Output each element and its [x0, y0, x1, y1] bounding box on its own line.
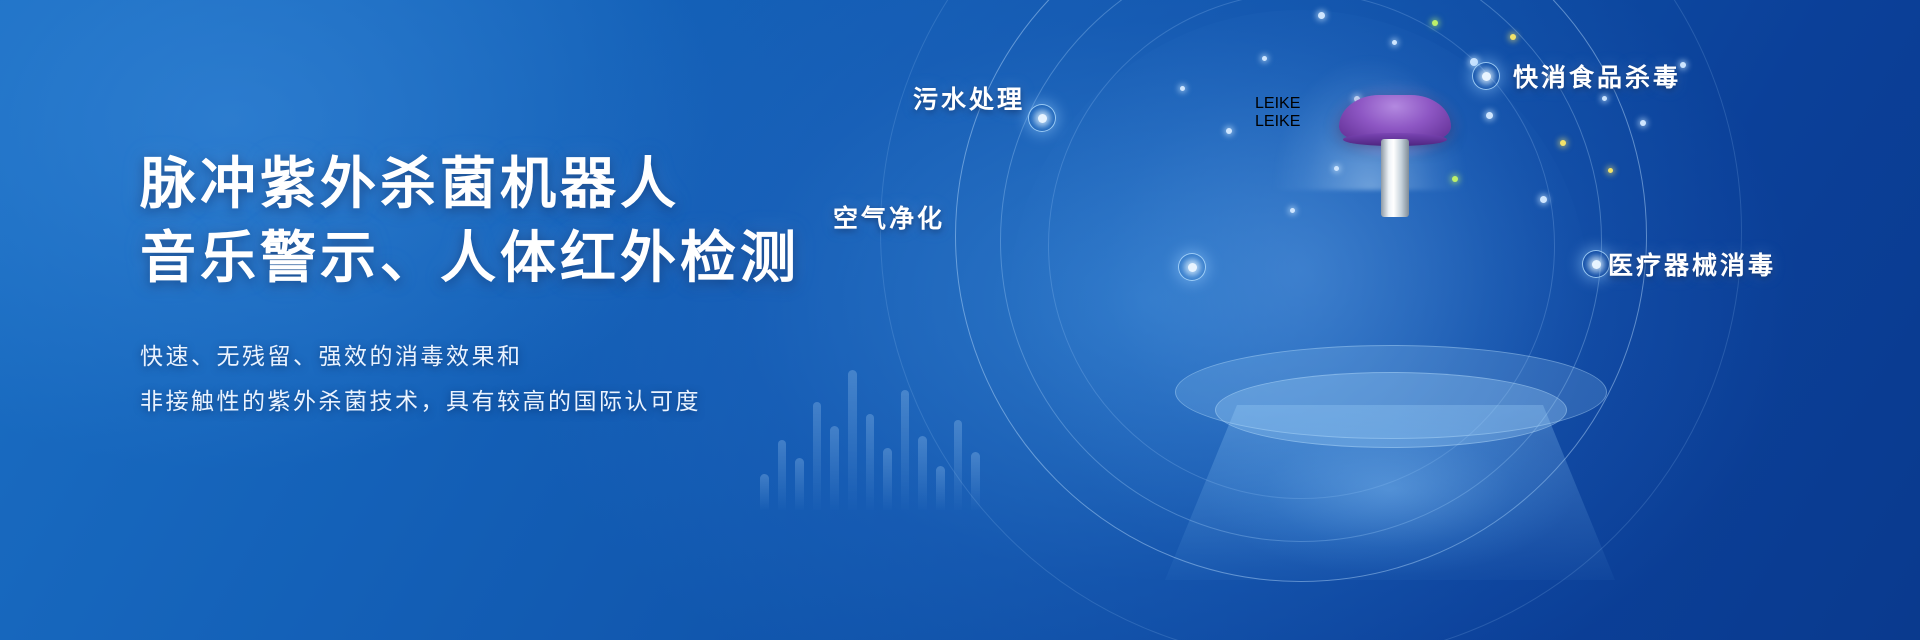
subtitle-line-1: 快速、无残留、强效的消毒效果和: [140, 334, 860, 379]
lamp-tube: [1381, 139, 1409, 217]
particle-dot: [1640, 120, 1646, 126]
title-line-2: 音乐警示、人体红外检测: [140, 222, 860, 296]
particle-dot: [1602, 96, 1607, 101]
callout-node-food: [1472, 62, 1500, 90]
particle-dot: [1226, 128, 1232, 134]
particle-dot: [1608, 168, 1613, 173]
callout-label-medical: 医疗器械消毒: [1608, 246, 1776, 282]
particle-dot: [1560, 140, 1566, 146]
callout-label-food: 快消食品杀毒: [1513, 58, 1681, 94]
particle-dot: [1510, 34, 1516, 40]
particle-dot: [1262, 56, 1267, 61]
title-line-1: 脉冲紫外杀菌机器人: [140, 148, 860, 222]
promo-banner: 污水处理 快消食品杀毒 空气净化 医疗器械消毒 LEIKE LEIKE 脉冲紫外…: [0, 0, 1920, 640]
particle-dot: [1392, 40, 1397, 45]
subtitle-line-2: 非接触性的紫外杀菌技术，具有较高的国际认可度: [140, 379, 860, 424]
callout-node-wastewater: [1028, 104, 1056, 132]
headline-block: 脉冲紫外杀菌机器人 音乐警示、人体红外检测 快速、无残留、强效的消毒效果和 非接…: [140, 148, 860, 424]
callout-node-medical: [1582, 250, 1610, 278]
particle-dot: [1318, 12, 1325, 19]
product-robot: LEIKE LEIKE: [1255, 95, 1515, 575]
particle-dot: [1180, 86, 1185, 91]
particle-dot: [1432, 20, 1438, 26]
callout-node-air: [1178, 253, 1206, 281]
particle-dot: [1540, 196, 1547, 203]
callout-label-wastewater: 污水处理: [913, 80, 1025, 116]
